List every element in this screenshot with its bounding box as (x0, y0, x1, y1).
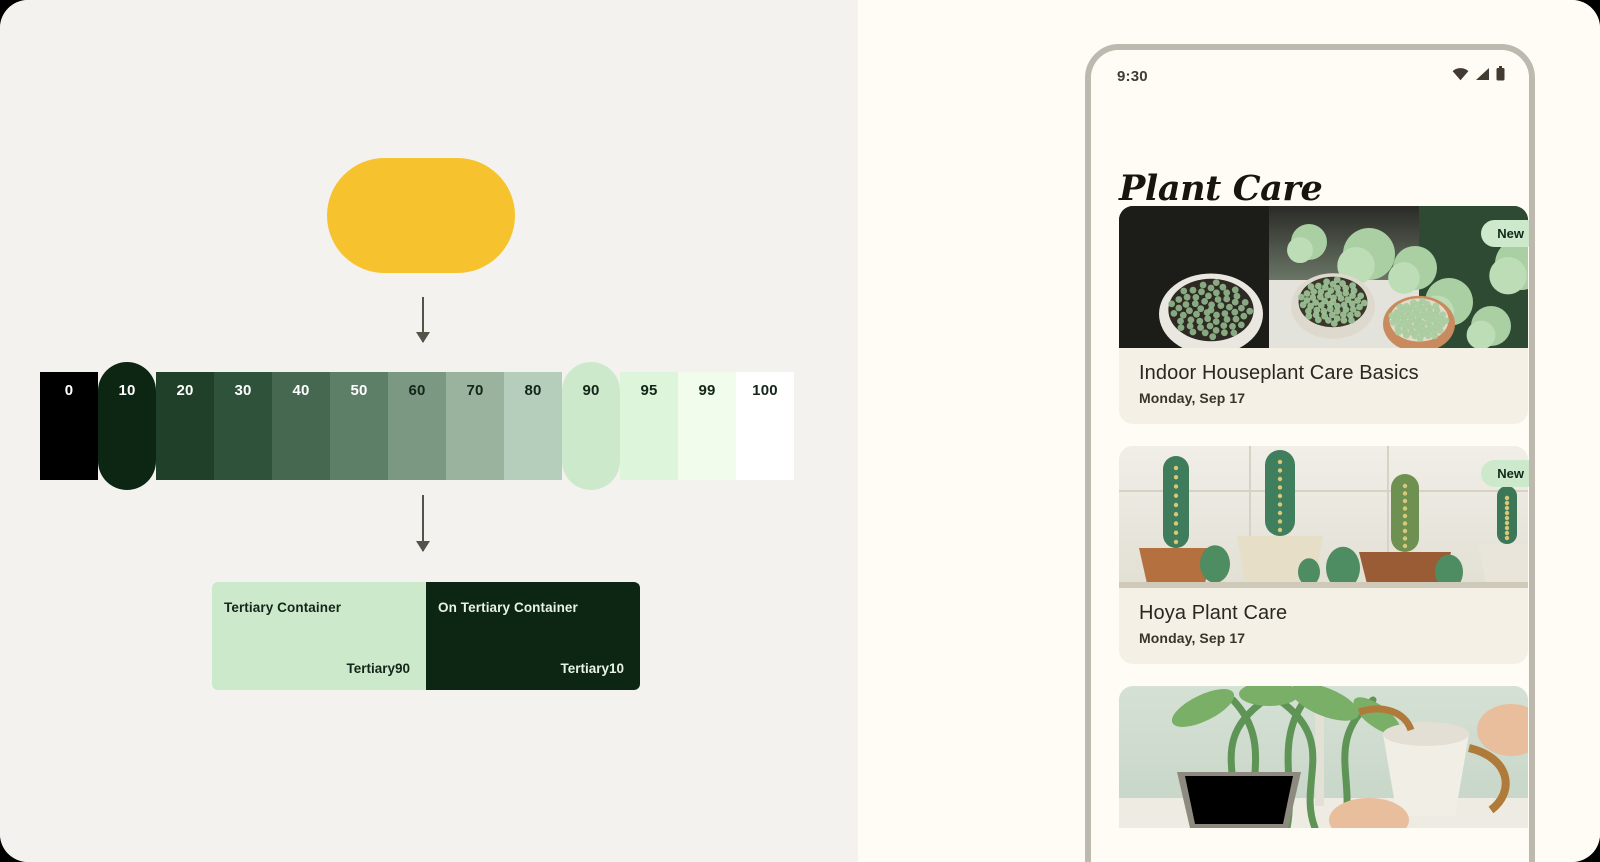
status-badge: New (1481, 460, 1529, 487)
tone-label: 40 (292, 382, 309, 480)
tone-swatch-50[interactable]: 50 (330, 372, 388, 480)
card-image (1119, 446, 1528, 588)
color-role-cards: Tertiary ContainerTertiary90On Tertiary … (212, 582, 640, 690)
tone-label: 100 (752, 382, 778, 480)
tone-label: 50 (350, 382, 367, 480)
tone-label: 60 (408, 382, 425, 480)
card-title: Hoya Plant Care (1139, 602, 1528, 625)
tone-swatch-40[interactable]: 40 (272, 372, 330, 480)
status-time: 9:30 (1117, 68, 1148, 85)
tone-label: 10 (118, 382, 135, 399)
card-image (1119, 206, 1528, 348)
card-title: Indoor Houseplant Care Basics (1139, 362, 1528, 385)
tone-swatch-70[interactable]: 70 (446, 372, 504, 480)
tone-swatch-100[interactable]: 100 (736, 372, 794, 480)
card-date: Monday, Sep 17 (1139, 630, 1528, 646)
signal-icon (1475, 67, 1490, 86)
card-image (1119, 686, 1528, 828)
tone-swatch-60[interactable]: 60 (388, 372, 446, 480)
plant-card[interactable]: NewIndoor Houseplant Care BasicsMonday, … (1119, 206, 1528, 424)
tone-label: 80 (524, 382, 541, 480)
plant-card[interactable] (1119, 686, 1528, 828)
tone-label: 90 (582, 382, 599, 399)
tone-label: 99 (698, 382, 715, 480)
tone-swatch-30[interactable]: 30 (214, 372, 272, 480)
tone-swatch-90[interactable]: 90 (562, 362, 620, 490)
phone-frame: 9:30 (1085, 44, 1535, 862)
device-preview-panel: 9:30 (858, 0, 1600, 862)
card-body: Indoor Houseplant Care BasicsMonday, Sep… (1119, 348, 1528, 424)
tone-swatch-99[interactable]: 99 (678, 372, 736, 480)
tone-label: 20 (176, 382, 193, 480)
battery-icon (1496, 66, 1505, 86)
role-card-tone-label: Tertiary10 (438, 661, 624, 676)
status-icons (1452, 66, 1505, 86)
page-title: Plant Care (1119, 168, 1322, 209)
plant-card[interactable]: NewHoya Plant CareMonday, Sep 17 (1119, 446, 1528, 664)
tone-swatch-20[interactable]: 20 (156, 372, 214, 480)
role-card-tone-label: Tertiary90 (224, 661, 410, 676)
tone-swatch-10[interactable]: 10 (98, 362, 156, 490)
arrow-down-seed-to-palette (422, 297, 424, 342)
role-card-title: On Tertiary Container (438, 600, 624, 615)
role-card-title: Tertiary Container (224, 600, 410, 615)
phone-screen: 9:30 (1091, 50, 1529, 862)
seed-color-swatch[interactable] (327, 158, 515, 273)
tonal-palette: 01020304050607080909599100 (40, 372, 794, 480)
status-bar: 9:30 (1091, 50, 1529, 102)
tone-label: 0 (65, 382, 74, 480)
tone-swatch-95[interactable]: 95 (620, 372, 678, 480)
card-date: Monday, Sep 17 (1139, 390, 1528, 406)
tone-label: 95 (640, 382, 657, 480)
status-badge: New (1481, 220, 1529, 247)
tone-swatch-0[interactable]: 0 (40, 372, 98, 480)
screenshot-root: 01020304050607080909599100 Tertiary Cont… (0, 0, 1600, 862)
tone-swatch-80[interactable]: 80 (504, 372, 562, 480)
role-card-tertiary-container[interactable]: Tertiary ContainerTertiary90 (212, 582, 426, 690)
role-card-on-tertiary-container[interactable]: On Tertiary ContainerTertiary10 (426, 582, 640, 690)
plant-card-list: NewIndoor Houseplant Care BasicsMonday, … (1119, 206, 1523, 828)
arrow-down-palette-to-roles (422, 495, 424, 551)
card-body: Hoya Plant CareMonday, Sep 17 (1119, 588, 1528, 664)
wifi-icon (1452, 67, 1469, 86)
palette-panel: 01020304050607080909599100 Tertiary Cont… (0, 0, 858, 862)
tone-label: 30 (234, 382, 251, 480)
tone-label: 70 (466, 382, 483, 480)
